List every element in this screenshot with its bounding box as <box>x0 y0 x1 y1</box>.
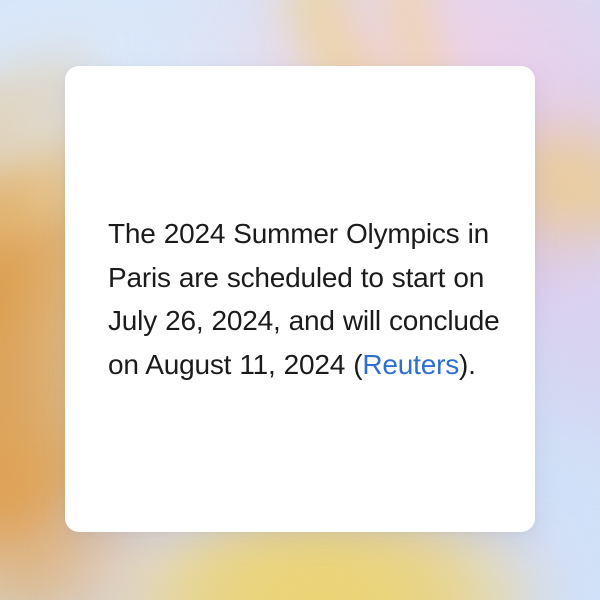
answer-text-after-link: ). <box>459 349 476 380</box>
answer-card: The 2024 Summer Olympics in Paris are sc… <box>65 66 535 532</box>
answer-text: The 2024 Summer Olympics in Paris are sc… <box>108 212 505 386</box>
screenshot-canvas: The 2024 Summer Olympics in Paris are sc… <box>0 0 600 600</box>
answer-card-body: The 2024 Summer Olympics in Paris are sc… <box>65 212 535 386</box>
source-link-reuters[interactable]: Reuters <box>362 349 459 380</box>
